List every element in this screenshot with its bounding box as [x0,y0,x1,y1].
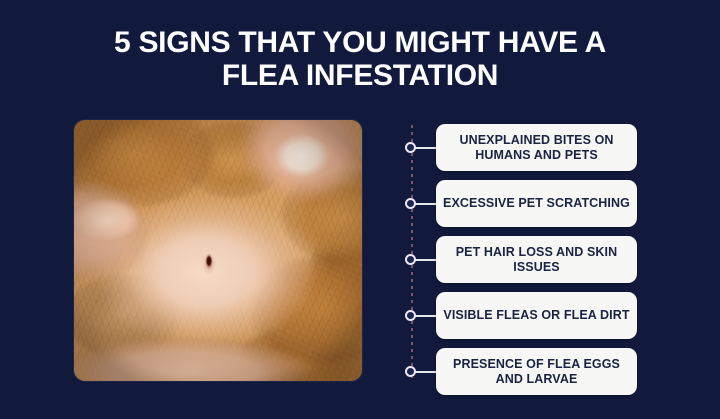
list-item: PET HAIR LOSS AND SKIN ISSUES [398,236,643,283]
photo-image [74,120,362,381]
list-item: VISIBLE FLEAS OR FLEA DIRT [398,292,643,339]
sign-card-1[interactable]: UNEXPLAINED BITES ON HUMANS AND PETS [436,124,637,171]
sign-card-label: PET HAIR LOSS AND SKIN ISSUES [443,245,630,274]
list-item: PRESENCE OF FLEA EGGS AND LARVAE [398,348,643,395]
sign-card-5[interactable]: PRESENCE OF FLEA EGGS AND LARVAE [436,348,637,395]
list-item: EXCESSIVE PET SCRATCHING [398,180,643,227]
bullet-dot-icon [405,142,416,153]
page-title-line-2: FLEA INFESTATION [60,59,660,92]
sign-card-label: UNEXPLAINED BITES ON HUMANS AND PETS [443,133,630,162]
page-title: 5 SIGNS THAT YOU MIGHT HAVE A FLEA INFES… [60,26,660,92]
flea-on-pet-photo [74,120,362,381]
infographic-root: 5 SIGNS THAT YOU MIGHT HAVE A FLEA INFES… [0,0,720,419]
bullet-dot-icon [405,366,416,377]
bullet-dot-icon [405,310,416,321]
sign-card-3[interactable]: PET HAIR LOSS AND SKIN ISSUES [436,236,637,283]
signs-list: UNEXPLAINED BITES ON HUMANS AND PETS EXC… [398,124,643,392]
bullet-dot-icon [405,254,416,265]
sign-card-4[interactable]: VISIBLE FLEAS OR FLEA DIRT [436,292,637,339]
sign-card-label: EXCESSIVE PET SCRATCHING [443,196,630,211]
sign-card-label: PRESENCE OF FLEA EGGS AND LARVAE [443,357,630,386]
bullet-dot-icon [405,198,416,209]
list-item: UNEXPLAINED BITES ON HUMANS AND PETS [398,124,643,171]
sign-card-2[interactable]: EXCESSIVE PET SCRATCHING [436,180,637,227]
sign-card-label: VISIBLE FLEAS OR FLEA DIRT [443,308,629,323]
page-title-line-1: 5 SIGNS THAT YOU MIGHT HAVE A [60,26,660,59]
